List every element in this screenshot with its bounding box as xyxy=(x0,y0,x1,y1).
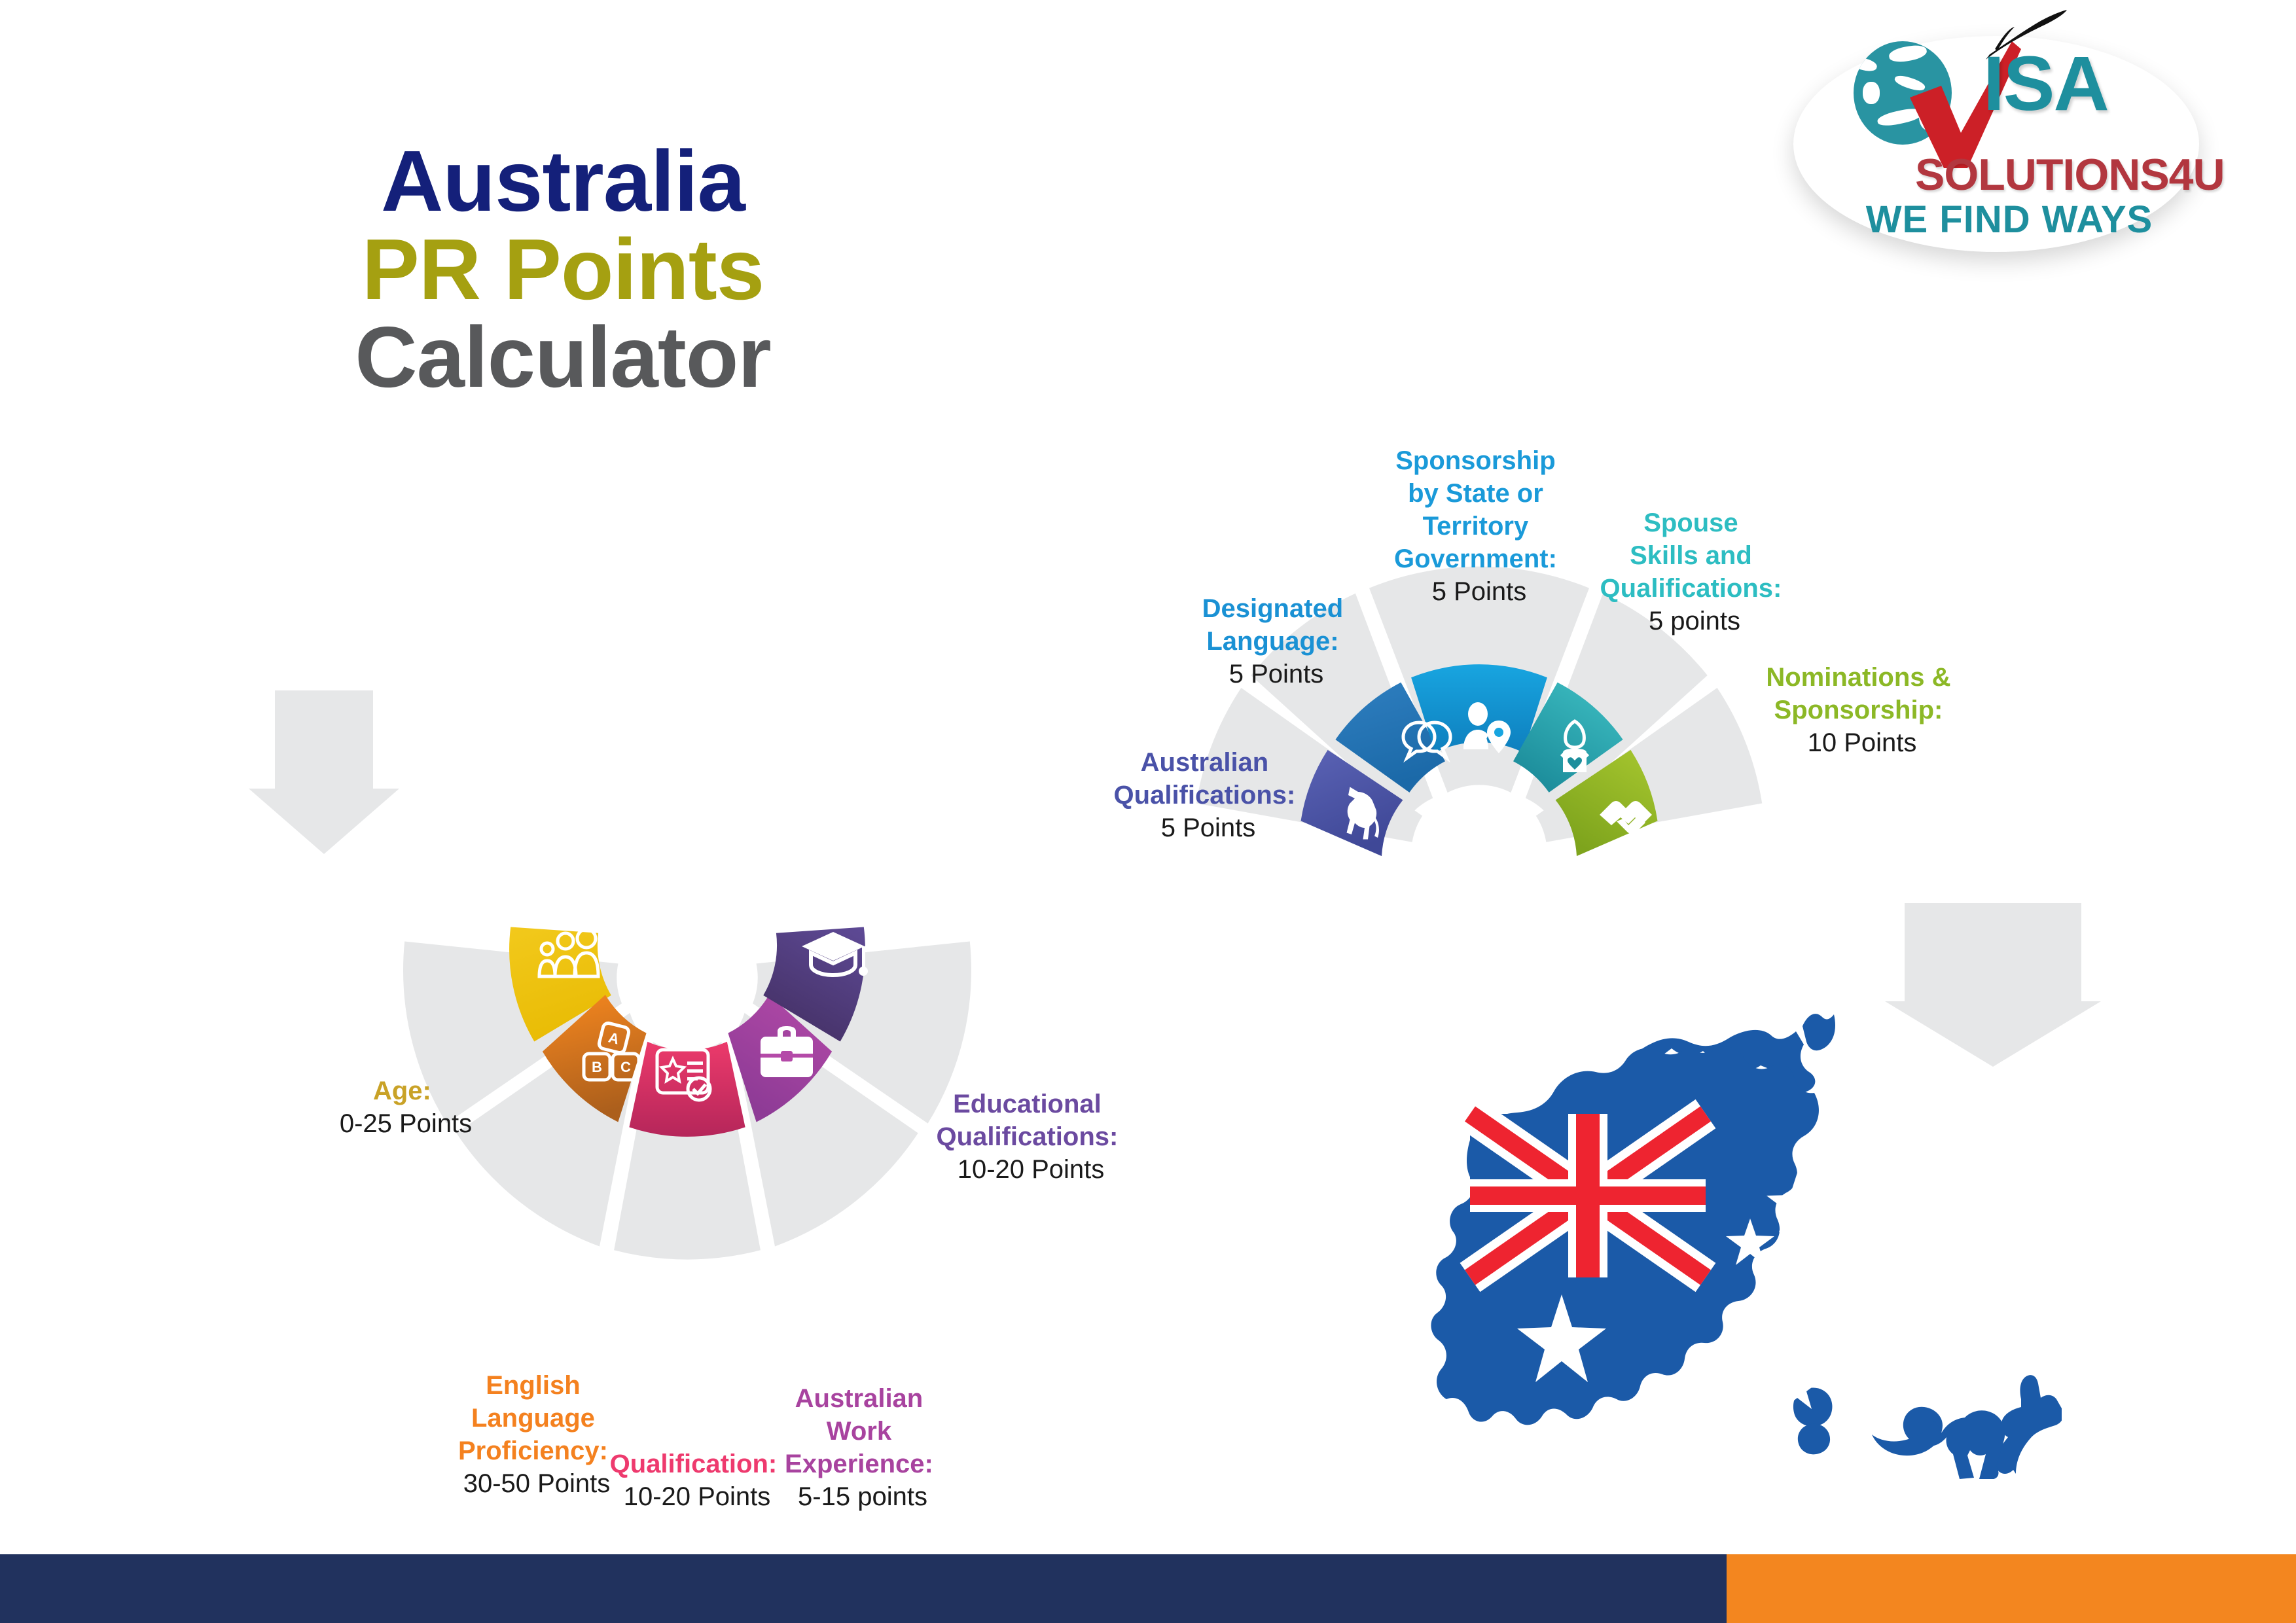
bottom-label-3-line1: Australian xyxy=(795,1384,924,1413)
top-label-3-line3: Qualifications: xyxy=(1600,574,1782,603)
bottom-label-4-line2: Qualifications: xyxy=(937,1122,1119,1151)
top-label-3-points: 5 points xyxy=(1649,607,1740,635)
bottom-label-3: Australian Work Experience: 5-15 points xyxy=(785,1384,941,1511)
top-label-1-line2: Language: xyxy=(1206,627,1338,656)
bottom-label-1-points: 30-50 Points xyxy=(463,1469,611,1498)
logo-brand-main: ISA xyxy=(1983,45,2108,122)
bottom-label-1-line3: Proficiency: xyxy=(458,1436,608,1465)
page-title: Australia PR Points Calculator xyxy=(275,137,851,402)
australia-illustration xyxy=(1407,988,2062,1479)
bottom-label-2-points: 10-20 Points xyxy=(624,1482,771,1511)
top-label-2-line3: Territory xyxy=(1423,512,1529,541)
bottom-label-4-line1: Educational xyxy=(953,1090,1102,1118)
bottom-label-0-points: 0-25 Points xyxy=(340,1109,472,1138)
top-label-2-line1: Sponsorship xyxy=(1395,446,1555,475)
title-line-1: Australia xyxy=(275,137,851,226)
bottom-label-4: Educational Qualifications: 10-20 Points xyxy=(937,1090,1126,1184)
footer-bar-navy xyxy=(0,1554,1727,1623)
bottom-label-1: English Language Proficiency: 30-50 Poin… xyxy=(458,1371,615,1498)
top-label-4-points: 10 Points xyxy=(1808,728,1917,757)
top-label-4: Nominations & Sponsorship: 10 Points xyxy=(1766,663,1958,757)
bottom-label-0-line1: Age: xyxy=(373,1077,431,1105)
bottom-label-2: Qualification: 10-20 Points xyxy=(610,1450,785,1511)
top-label-2-points: 5 Points xyxy=(1432,577,1527,606)
top-label-0-line2: Qualifications: xyxy=(1114,781,1296,810)
top-label-0: Australian Qualifications: 5 Points xyxy=(1114,748,1303,842)
footer-bar-orange xyxy=(1727,1554,2296,1623)
title-line-2: PR Points xyxy=(275,226,851,314)
top-label-3-line2: Skills and xyxy=(1630,541,1752,570)
title-line-3: Calculator xyxy=(275,313,851,402)
bottom-label-3-line3: Experience: xyxy=(785,1450,933,1478)
bottom-label-1-line2: Language xyxy=(471,1404,595,1433)
bottom-label-4-points: 10-20 Points xyxy=(958,1155,1105,1184)
skilled-migration-bonus-wheel: 216deg --> xyxy=(982,288,2042,890)
top-label-3-line1: Spouse xyxy=(1643,508,1738,537)
svg-text:B: B xyxy=(592,1059,602,1075)
svg-text:C: C xyxy=(620,1059,631,1075)
logo-tagline: WE FIND WAYS xyxy=(1865,201,2153,239)
company-logo[interactable]: ISA SOLUTIONS4U WE FIND WAYS xyxy=(1793,36,2199,252)
top-label-2-line4: Government: xyxy=(1394,544,1557,573)
down-arrow-left xyxy=(249,690,399,854)
top-label-1-line1: Designated xyxy=(1202,594,1344,623)
top-label-4-line1: Nominations & xyxy=(1766,663,1950,692)
bottom-label-3-points: 5-15 points xyxy=(798,1482,927,1511)
bottom-label-2-line1: Qualification: xyxy=(610,1450,778,1478)
kangaroo-silhouette-icon xyxy=(1872,1375,2062,1479)
bottom-label-3-line2: Work xyxy=(827,1417,892,1446)
core-points-wheel: A B C xyxy=(170,857,1244,1525)
infographic-canvas: Australia PR Points Calculator ISA SOLUT… xyxy=(0,0,2296,1623)
australian-flag-icon xyxy=(1470,1114,1706,1277)
top-label-4-line2: Sponsorship: xyxy=(1774,696,1943,724)
logo-brand-sub: SOLUTIONS4U xyxy=(1915,152,2197,197)
top-label-1-points: 5 Points xyxy=(1229,660,1324,688)
top-label-2-line2: by State or xyxy=(1408,479,1543,508)
top-label-0-line1: Australian xyxy=(1141,748,1269,777)
bottom-label-1-line1: English xyxy=(486,1371,580,1400)
top-label-0-points: 5 Points xyxy=(1161,813,1256,842)
